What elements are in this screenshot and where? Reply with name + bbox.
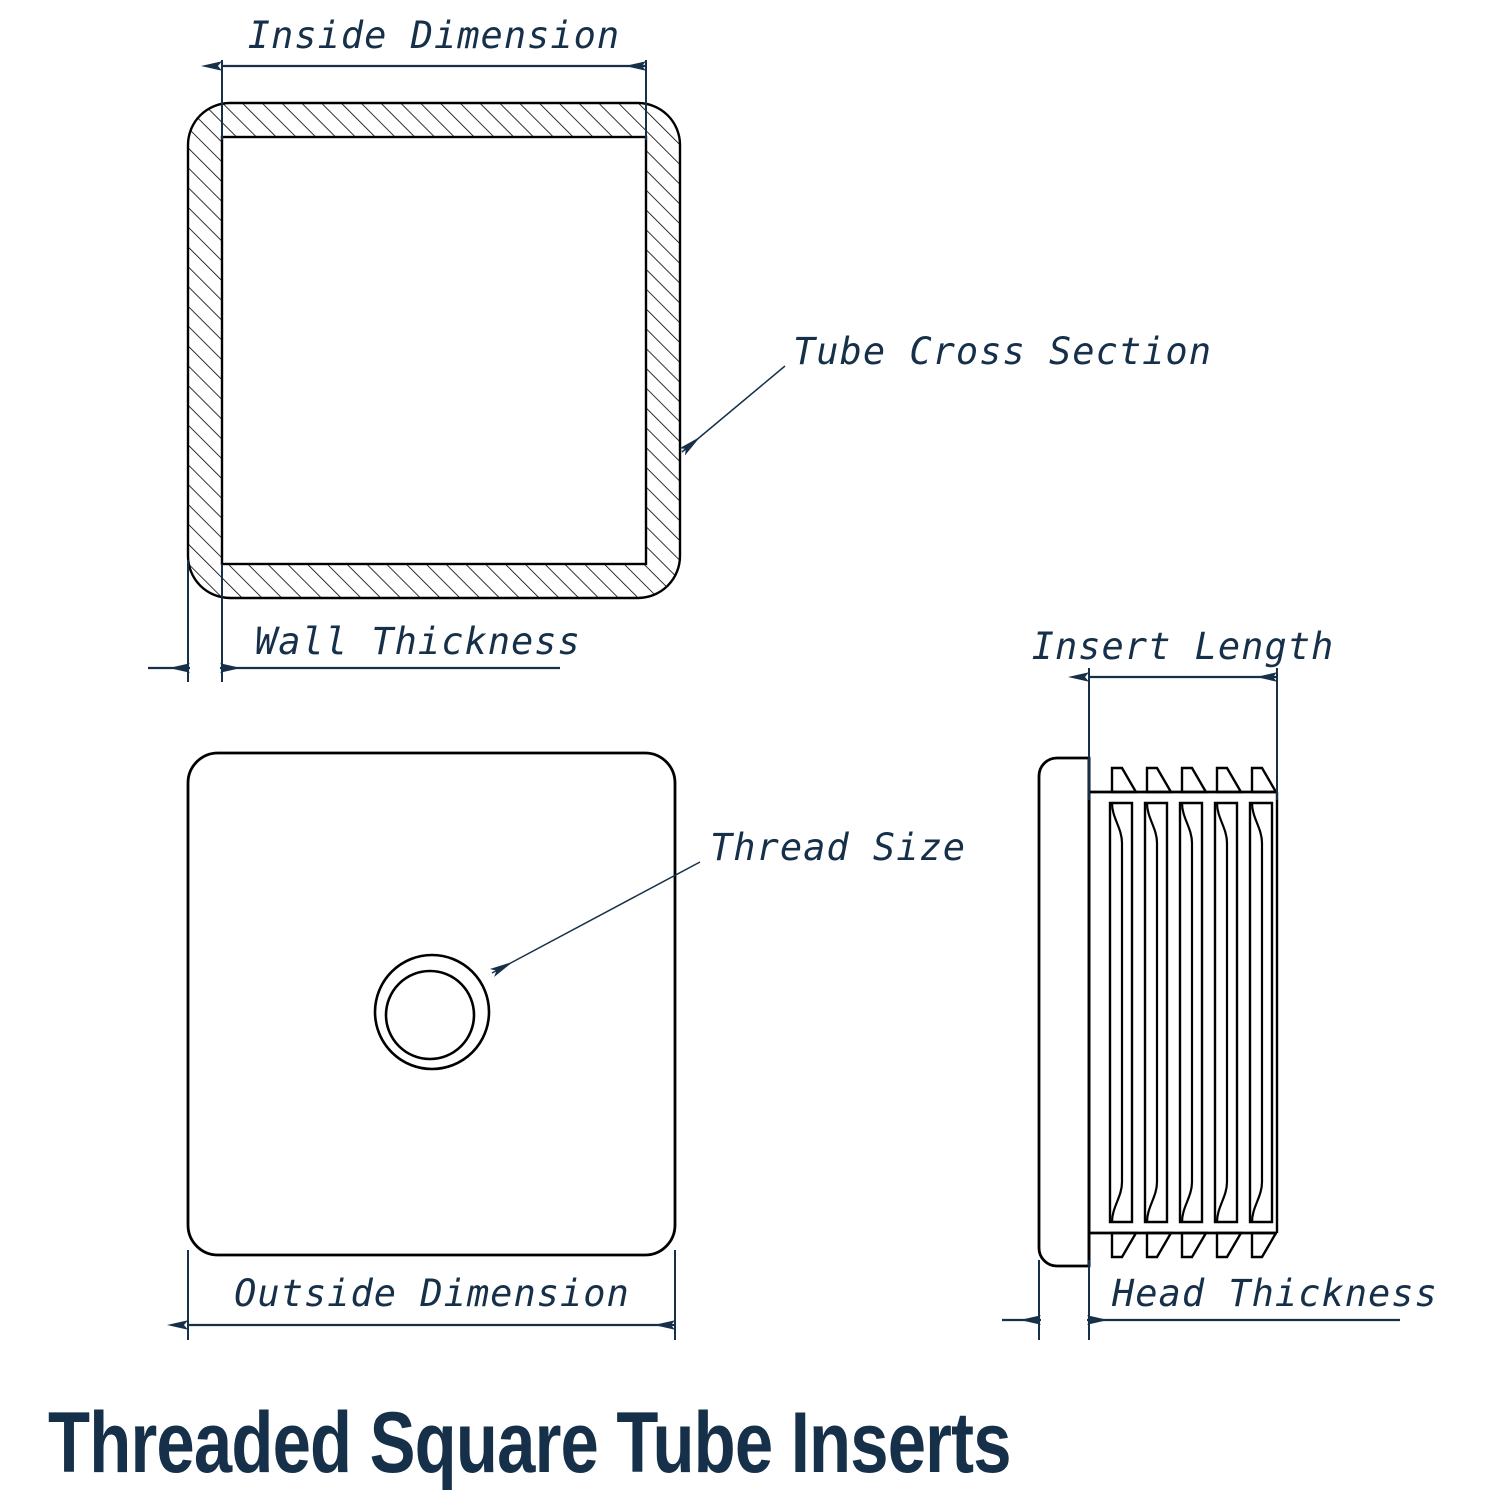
technical-drawing-page: Inside Dimension Wall Thickness Tube Cro… bbox=[0, 0, 1500, 1500]
bottom-barb-2 bbox=[1147, 1233, 1171, 1257]
bottom-barb-4 bbox=[1217, 1233, 1241, 1257]
insert-head-flange bbox=[1039, 758, 1089, 1266]
thread-size-label: Thread Size bbox=[710, 826, 966, 869]
top-barb-2 bbox=[1147, 768, 1171, 792]
top-barb-5 bbox=[1252, 768, 1276, 792]
thread-size-leader bbox=[492, 862, 700, 973]
top-barb-1 bbox=[1112, 768, 1136, 792]
insert-length-label: Insert Length bbox=[1032, 625, 1335, 668]
rib-4 bbox=[1215, 803, 1237, 1222]
thread-inner-circle bbox=[386, 971, 474, 1059]
insert-head-outline bbox=[188, 753, 675, 1255]
top-barb-3 bbox=[1182, 768, 1206, 792]
head-thickness-label: Head Thickness bbox=[1111, 1272, 1438, 1315]
insert-top-barbs bbox=[1112, 768, 1276, 792]
bottom-barb-1 bbox=[1112, 1233, 1136, 1257]
tube-cross-section-leader bbox=[682, 366, 785, 452]
rib-1 bbox=[1110, 803, 1132, 1222]
tube-wall-hatched-region bbox=[188, 103, 680, 598]
insert-side-view: Insert Length Head Thickness bbox=[1002, 625, 1438, 1340]
bottom-barb-5 bbox=[1252, 1233, 1276, 1257]
tube-inner-profile bbox=[222, 137, 646, 564]
insert-bottom-barbs bbox=[1112, 1233, 1276, 1257]
wall-thickness-label: Wall Thickness bbox=[255, 620, 581, 663]
top-barb-4 bbox=[1217, 768, 1241, 792]
page-title: Threaded Square Tube Inserts bbox=[48, 1400, 1011, 1486]
rib-2 bbox=[1145, 803, 1167, 1222]
outside-dimension-label: Outside Dimension bbox=[234, 1272, 630, 1315]
insert-ribs bbox=[1110, 803, 1272, 1222]
rib-3 bbox=[1180, 803, 1202, 1222]
inside-dimension-label: Inside Dimension bbox=[248, 14, 620, 57]
insert-front-view: Thread Size Outside Dimension bbox=[188, 753, 966, 1340]
rib-5 bbox=[1250, 803, 1272, 1222]
tube-cross-section-label: Tube Cross Section bbox=[793, 330, 1212, 373]
wall-hatch-fill bbox=[188, 103, 680, 598]
engineering-drawing-canvas: Inside Dimension Wall Thickness Tube Cro… bbox=[0, 0, 1500, 1500]
tube-cross-section-view: Inside Dimension Wall Thickness Tube Cro… bbox=[148, 14, 1212, 682]
bottom-barb-3 bbox=[1182, 1233, 1206, 1257]
tube-outer-profile bbox=[188, 103, 680, 598]
